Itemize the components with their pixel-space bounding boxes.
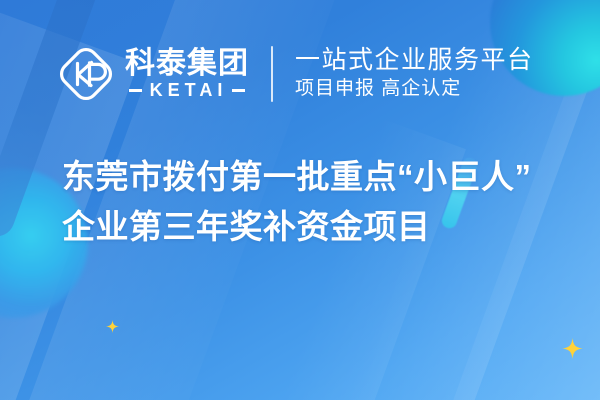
brand-name-cn: 科泰集团	[125, 49, 249, 80]
promo-banner: 科泰集团 KETAI 一站式企业服务平台 项目申报 高企认定 东莞市拨付第一批重…	[0, 0, 600, 400]
sparkle-small-icon	[106, 320, 119, 333]
tagline-sub: 项目申报 高企认定	[295, 77, 534, 102]
page-title-line-1: 东莞市拨付第一批重点“小巨人”	[62, 152, 562, 202]
brand-name-en-row: KETAI	[129, 81, 246, 99]
tagline-main: 一站式企业服务平台	[295, 46, 534, 76]
header-divider	[271, 46, 273, 102]
sparkle-large-icon	[562, 338, 583, 359]
brand-logo-wordmark: 科泰集团 KETAI	[125, 49, 249, 100]
tagline-block: 一站式企业服务平台 项目申报 高企认定	[295, 46, 534, 102]
wordmark-rule-right	[232, 89, 245, 92]
brand-logo: 科泰集团 KETAI	[58, 46, 249, 102]
page-title: 东莞市拨付第一批重点“小巨人” 企业第三年奖补资金项目	[62, 152, 562, 252]
kp-diamond-logo-mark-icon	[58, 46, 114, 102]
brand-name-en: KETAI	[147, 81, 228, 99]
wordmark-rule-left	[129, 89, 142, 92]
page-title-line-2: 企业第三年奖补资金项目	[62, 202, 562, 252]
banner-header: 科泰集团 KETAI 一站式企业服务平台 项目申报 高企认定	[0, 38, 600, 110]
